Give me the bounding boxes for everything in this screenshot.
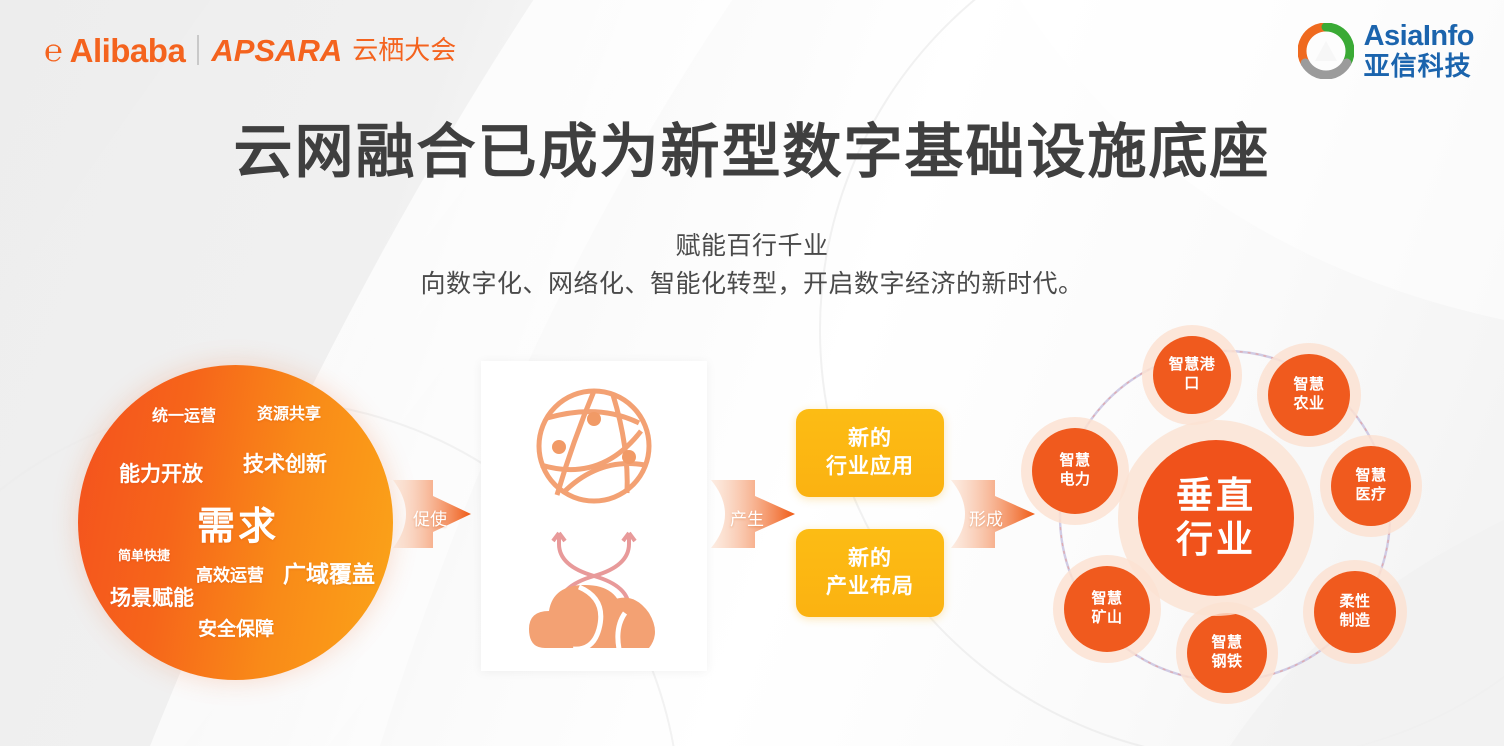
center-node-vertical-industry: 垂直 行业 bbox=[1138, 440, 1294, 596]
node-smart-medical-line-1: 智慧 bbox=[1355, 467, 1386, 486]
node-smart-mine-line-1: 智慧 bbox=[1091, 590, 1122, 609]
apsara-wordmark: APSARA bbox=[211, 35, 342, 66]
yellow-box-1-line-1: 新的 bbox=[848, 425, 892, 453]
demand-word: 简单快捷 bbox=[118, 545, 170, 564]
node-smart-medical: 智慧医疗 bbox=[1331, 446, 1411, 526]
node-smart-port-line-2: 口 bbox=[1184, 375, 1200, 394]
yellow-box-2-line-1: 新的 bbox=[848, 545, 892, 573]
arrow-promote-label: 促使 bbox=[413, 505, 447, 530]
yellow-box-industry-layout: 新的 产业布局 bbox=[796, 529, 944, 617]
node-smart-agriculture-line-1: 智慧 bbox=[1293, 376, 1324, 395]
alibaba-wordmark: Alibaba bbox=[70, 34, 186, 67]
node-smart-port-line-1: 智慧港 bbox=[1169, 356, 1216, 375]
apsara-chinese-name: 云栖大会 bbox=[352, 37, 456, 63]
demand-word: 统一运营 bbox=[152, 402, 216, 426]
node-smart-steel-line-2: 钢铁 bbox=[1211, 653, 1242, 672]
node-smart-power-line-2: 电力 bbox=[1059, 471, 1090, 490]
node-smart-power-line-1: 智慧 bbox=[1059, 452, 1090, 471]
demand-word: 能力开放 bbox=[119, 458, 203, 488]
slide-canvas: ℮ Alibaba APSARA 云栖大会 AsiaInfo 亚信科技 云网融合… bbox=[0, 0, 1504, 746]
demand-word: 高效运营 bbox=[196, 561, 264, 586]
subtitle-line-2: 向数字化、网络化、智能化转型，开启数字经济的新时代。 bbox=[0, 266, 1504, 304]
arrow-form-label: 形成 bbox=[969, 505, 1003, 530]
node-smart-power: 智慧电力 bbox=[1032, 428, 1118, 514]
demand-word: 技术创新 bbox=[243, 448, 327, 478]
demand-word: 场景赋能 bbox=[110, 582, 194, 612]
asiainfo-en-name: AsiaInfo bbox=[1364, 22, 1474, 51]
cloud-network-illustration-card bbox=[481, 361, 707, 671]
subtitle-line-1: 赋能百行千业 bbox=[0, 228, 1504, 266]
node-smart-mine-line-2: 矿山 bbox=[1091, 609, 1122, 628]
node-smart-steel-line-1: 智慧 bbox=[1211, 634, 1242, 653]
node-smart-agriculture-line-2: 农业 bbox=[1293, 395, 1324, 414]
asiainfo-ring-icon bbox=[1298, 23, 1354, 79]
alibaba-mark-icon: ℮ bbox=[44, 35, 63, 66]
node-flexible-mfg-line-1: 柔性 bbox=[1339, 593, 1370, 612]
demand-center-label: 需求 bbox=[197, 495, 279, 550]
node-smart-agriculture: 智慧农业 bbox=[1268, 354, 1350, 436]
arrow-produce-label: 产生 bbox=[730, 505, 764, 530]
center-node-line-1: 垂直 bbox=[1176, 474, 1256, 518]
page-subtitle: 赋能百行千业 向数字化、网络化、智能化转型，开启数字经济的新时代。 bbox=[0, 228, 1504, 303]
node-flexible-mfg-line-2: 制造 bbox=[1339, 612, 1370, 631]
illustration-graphic bbox=[481, 361, 707, 671]
yellow-box-1-line-2: 行业应用 bbox=[826, 453, 914, 481]
node-smart-steel: 智慧钢铁 bbox=[1187, 613, 1267, 693]
yellow-box-2-line-2: 产业布局 bbox=[826, 573, 914, 601]
node-smart-port: 智慧港口 bbox=[1153, 336, 1231, 414]
asiainfo-logo: AsiaInfo 亚信科技 bbox=[1298, 22, 1474, 79]
center-node-line-2: 行业 bbox=[1176, 518, 1256, 562]
demand-word: 资源共享 bbox=[257, 400, 321, 424]
page-title: 云网融合已成为新型数字基础设施底座 bbox=[0, 120, 1504, 185]
node-smart-mine: 智慧矿山 bbox=[1064, 566, 1150, 652]
logo-divider bbox=[197, 35, 199, 65]
alibaba-apsara-logo: ℮ Alibaba APSARA 云栖大会 bbox=[44, 28, 456, 72]
yellow-box-industry-application: 新的 行业应用 bbox=[796, 409, 944, 497]
node-smart-medical-line-2: 医疗 bbox=[1355, 486, 1386, 505]
node-flexible-mfg: 柔性制造 bbox=[1314, 571, 1396, 653]
asiainfo-cn-name: 亚信科技 bbox=[1364, 53, 1474, 79]
demand-word: 广域覆盖 bbox=[283, 555, 375, 589]
demand-word: 安全保障 bbox=[198, 614, 274, 641]
